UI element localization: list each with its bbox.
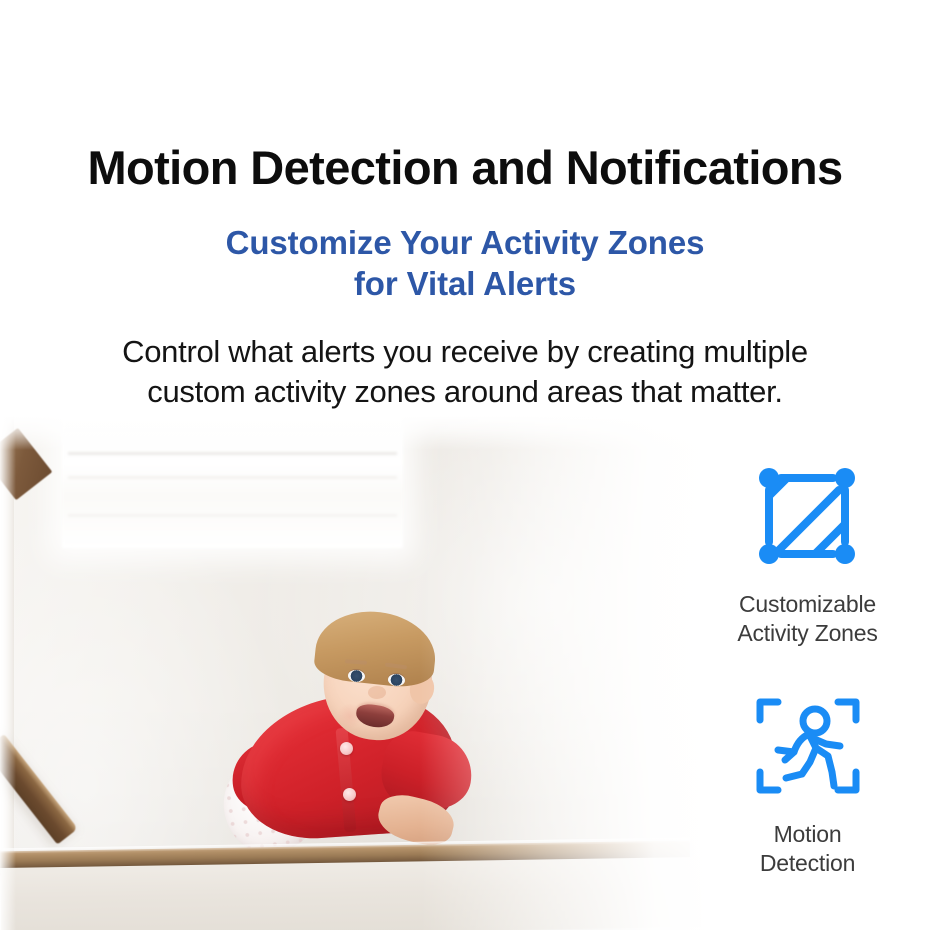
blind-slat [68, 514, 397, 517]
subtitle-line-1: Customize Your Activity Zones [226, 224, 705, 261]
photo-left-fade [0, 416, 16, 930]
photo-right-fade [420, 416, 720, 930]
blind-slat [68, 476, 397, 479]
feature-list: Customizable Activity Zones [700, 460, 915, 878]
body-line-2: custom activity zones around areas that … [0, 372, 930, 412]
feature-label-line-1: Motion [774, 821, 842, 847]
body-description: Control what alerts you receive by creat… [0, 332, 930, 412]
feature-label-activity-zones: Customizable Activity Zones [737, 590, 877, 648]
subtitle: Customize Your Activity Zones for Vital … [0, 222, 930, 304]
staircase-photo [0, 416, 720, 930]
feature-customizable-activity-zones: Customizable Activity Zones [737, 460, 877, 648]
motion-detection-icon [752, 690, 864, 807]
subtitle-line-2: for Vital Alerts [0, 263, 930, 304]
activity-zone-icon [751, 460, 863, 577]
baby-nose [368, 686, 386, 699]
feature-label-line-1: Customizable [739, 591, 876, 617]
page-title: Motion Detection and Notifications [0, 139, 930, 197]
feature-motion-detection: Motion Detection [752, 690, 864, 878]
promo-page: Motion Detection and Notifications Custo… [0, 0, 930, 930]
feature-label-motion-detection: Motion Detection [760, 820, 855, 878]
cardigan-button [343, 788, 356, 801]
cardigan-button [340, 742, 353, 755]
feature-label-line-2: Detection [760, 849, 855, 878]
feature-label-line-2: Activity Zones [737, 619, 877, 648]
body-line-1: Control what alerts you receive by creat… [122, 334, 808, 369]
blind-slat [68, 452, 397, 455]
